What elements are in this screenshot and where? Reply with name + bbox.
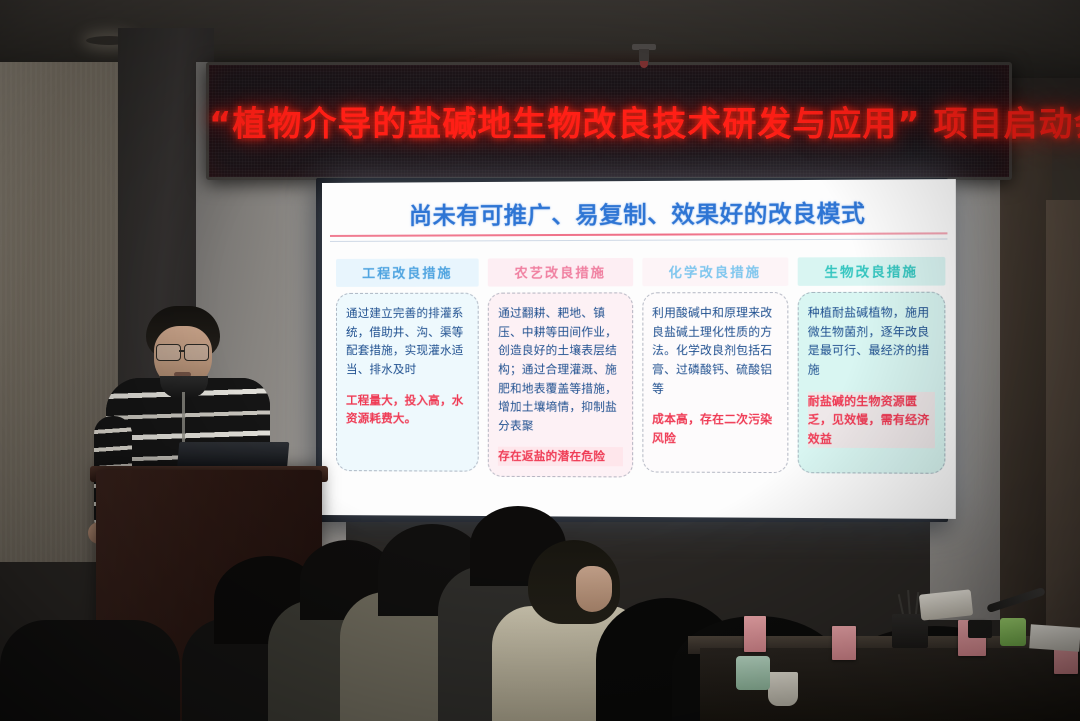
right-wood-pillar — [1000, 140, 1052, 640]
paper-stack — [1029, 624, 1080, 651]
green-cup — [1000, 618, 1026, 646]
name-card — [744, 616, 766, 652]
column-body: 通过翻耕、耙地、镇压、中耕等田间作业，创造良好的土壤表层结构；通过合理灌溉、施肥… — [488, 292, 633, 477]
led-banner-text: “植物介导的盐碱地生物改良技术研发与应用” 项目启动会 — [209, 97, 1009, 146]
slide-column-chemical: 化学改良措施 利用酸碱中和原理来改良盐碱土理化性质的方法。化学改良剂包括石膏、过… — [642, 257, 788, 473]
pen-icon — [898, 594, 905, 616]
slide-column-engineering: 工程改良措施 通过建立完善的排灌系统，借助井、沟、渠等配套措施，实现灌水适当、排… — [336, 258, 479, 471]
column-warning-text: 存在返盐的潜在危险 — [498, 447, 622, 466]
paper-cup — [768, 672, 798, 706]
column-body: 利用酸碱中和原理来改良盐碱土理化性质的方法。化学改良剂包括石膏、过磷酸钙、硫酸铝… — [642, 292, 788, 473]
title-divider-secondary — [330, 238, 947, 241]
slide-column-biological: 生物改良措施 种植耐盐碱植物，施用微生物菌剂，逐年改良是最可行、最经济的措施 耐… — [797, 257, 945, 474]
name-card — [832, 626, 856, 660]
presentation-slide: 尚未有可推广、易复制、效果好的改良模式 工程改良措施 通过建立完善的排灌系统，借… — [322, 179, 956, 519]
column-body-text: 种植耐盐碱植物，施用微生物菌剂，逐年改良是最可行、最经济的措施 — [808, 303, 935, 379]
projection-screen: 尚未有可推广、易复制、效果好的改良模式 工程改良措施 通过建立完善的排灌系统，借… — [322, 179, 956, 519]
column-body: 种植耐盐碱植物，施用微生物菌剂，逐年改良是最可行、最经济的措施 耐盐碱的生物资源… — [797, 292, 945, 474]
slide-title: 尚未有可推广、易复制、效果好的改良模式 — [322, 193, 956, 231]
glasses-bridge — [179, 350, 185, 352]
sprinkler-icon — [630, 44, 658, 70]
tissue-box — [919, 589, 973, 620]
microphone-base — [968, 620, 992, 638]
conference-room-photo: “植物介导的盐碱地生物改良技术研发与应用” 项目启动会 尚未有可推广、易复制、效… — [0, 0, 1080, 721]
column-body-text: 通过建立完善的排灌系统，借助井、沟、渠等配套措施，实现灌水适当、排水及时 — [346, 304, 469, 379]
glasses-icon — [184, 344, 209, 361]
column-header: 化学改良措施 — [642, 257, 788, 286]
column-header: 生物改良措施 — [797, 257, 945, 286]
green-mug — [736, 656, 770, 690]
column-warning-text: 成本高，存在二次污染风险 — [652, 410, 778, 448]
slide-columns: 工程改良措施 通过建立完善的排灌系统，借助井、沟、渠等配套措施，实现灌水适当、排… — [336, 257, 945, 474]
glasses-icon — [156, 344, 181, 361]
column-header: 工程改良措施 — [336, 258, 479, 286]
column-body-text: 利用酸碱中和原理来改良盐碱土理化性质的方法。化学改良剂包括石膏、过磷酸钙、硫酸铝… — [652, 303, 778, 398]
column-warning-text: 耐盐碱的生物资源匮乏，见效慢，需有经济效益 — [808, 391, 935, 448]
column-warning-text: 工程量大，投入高，水资源耗费大。 — [346, 391, 469, 429]
right-wood-pillar-edge — [1046, 200, 1080, 640]
audience-shoulder — [0, 620, 180, 721]
column-header: 农艺改良措施 — [488, 258, 633, 287]
slide-column-agronomic: 农艺改良措施 通过翻耕、耙地、镇压、中耕等田间作业，创造良好的土壤表层结构；通过… — [488, 258, 633, 472]
column-body: 通过建立完善的排灌系统，借助井、沟、渠等配套措施，实现灌水适当、排水及时 工程量… — [336, 293, 479, 472]
column-body-text: 通过翻耕、耙地、镇压、中耕等田间作业，创造良好的土壤表层结构；通过合理灌溉、施肥… — [498, 303, 622, 435]
led-banner: “植物介导的盐碱地生物改良技术研发与应用” 项目启动会 — [206, 62, 1012, 180]
audience-woman-face — [576, 566, 612, 612]
pen-icon — [907, 590, 911, 616]
title-divider — [330, 232, 947, 237]
